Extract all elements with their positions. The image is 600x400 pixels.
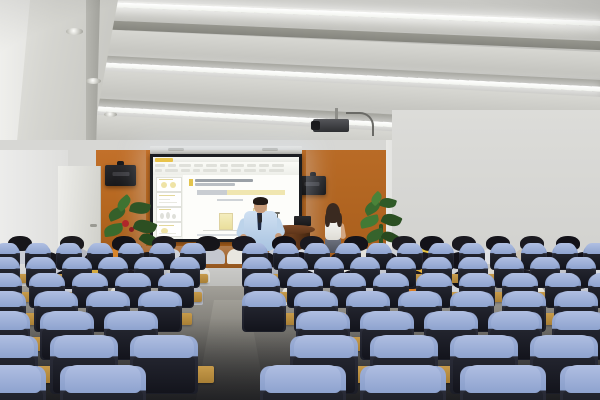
- seat-headrest: [141, 291, 180, 307]
- seat-headrest: [565, 365, 600, 393]
- seat-headrest: [453, 291, 492, 307]
- seat-headrest: [554, 243, 577, 253]
- seat-headrest: [182, 243, 205, 253]
- seat-cushion: [244, 306, 284, 331]
- seat-headrest: [151, 243, 174, 253]
- auditorium-seat[interactable]: [360, 366, 446, 400]
- auditorium-seat[interactable]: [242, 292, 286, 332]
- seat-headrest: [43, 311, 91, 330]
- seat-headrest: [58, 243, 81, 253]
- seat-headrest: [465, 365, 541, 393]
- seat-headrest: [496, 257, 522, 269]
- seat-headrest: [74, 273, 106, 287]
- seat-headrest: [418, 273, 450, 287]
- seat-headrest: [0, 273, 20, 287]
- seat-headrest: [454, 335, 514, 358]
- seat-headrest: [100, 257, 126, 269]
- seat-headrest: [401, 291, 440, 307]
- lecture-hall-photo: [0, 0, 600, 400]
- seat-headrest: [89, 291, 128, 307]
- seat-headrest: [245, 291, 284, 307]
- seat-headrest: [54, 335, 114, 358]
- seat-headrest: [160, 273, 192, 287]
- seat-headrest: [337, 243, 360, 253]
- seat-headrest: [0, 291, 23, 307]
- auditorium-seat[interactable]: [460, 366, 546, 400]
- seat-headrest: [352, 257, 378, 269]
- seat-rows: [0, 0, 600, 400]
- seat-headrest: [306, 243, 329, 253]
- seat-headrest: [89, 243, 112, 253]
- seat-headrest: [532, 257, 558, 269]
- seat-headrest: [534, 335, 594, 358]
- seat-headrest: [28, 257, 54, 269]
- seat-headrest: [246, 273, 278, 287]
- seat-headrest: [64, 257, 90, 269]
- seat-headrest: [365, 365, 441, 393]
- seat-headrest: [265, 365, 341, 393]
- seat-headrest: [27, 243, 50, 253]
- seat-headrest: [492, 243, 515, 253]
- seat-headrest: [0, 243, 18, 253]
- seat-headrest: [332, 273, 364, 287]
- seat-headrest: [461, 243, 484, 253]
- seat-headrest: [37, 291, 76, 307]
- seat-headrest: [0, 311, 27, 330]
- auditorium-seat[interactable]: [260, 366, 346, 400]
- seat-headrest: [31, 273, 63, 287]
- seat-headrest: [555, 311, 600, 330]
- seat-headrest: [491, 311, 539, 330]
- seat-headrest: [590, 273, 600, 287]
- seat-headrest: [461, 273, 493, 287]
- seat-headrest: [460, 257, 486, 269]
- seat-headrest: [244, 257, 270, 269]
- seat-headrest: [65, 365, 141, 393]
- seat-headrest: [275, 243, 298, 253]
- seat-headrest: [504, 273, 536, 287]
- seat-headrest: [0, 257, 18, 269]
- seat-headrest: [349, 291, 388, 307]
- seat-headrest: [294, 335, 354, 358]
- seat-headrest: [316, 257, 342, 269]
- seat-headrest: [374, 335, 434, 358]
- seat-headrest: [430, 243, 453, 253]
- seat-headrest: [557, 291, 596, 307]
- seat-headrest: [134, 335, 194, 358]
- seat-headrest: [368, 243, 391, 253]
- seat-headrest: [375, 273, 407, 287]
- seat-headrest: [363, 311, 411, 330]
- seat-headrest: [0, 335, 34, 358]
- seat-headrest: [568, 257, 594, 269]
- seat-headrest: [427, 311, 475, 330]
- auditorium-seat[interactable]: [0, 366, 46, 400]
- seat-headrest: [547, 273, 579, 287]
- seat-headrest: [289, 273, 321, 287]
- seat-headrest: [399, 243, 422, 253]
- auditorium-seat[interactable]: [560, 366, 600, 400]
- seat-headrest: [523, 243, 546, 253]
- seat-headrest: [388, 257, 414, 269]
- seat-headrest: [299, 311, 347, 330]
- auditorium-seat[interactable]: [60, 366, 146, 400]
- seat-headrest: [280, 257, 306, 269]
- seat-headrest: [117, 273, 149, 287]
- seat-headrest: [505, 291, 544, 307]
- seat-headrest: [172, 257, 198, 269]
- seat-headrest: [107, 311, 155, 330]
- seat-headrest: [297, 291, 336, 307]
- seat-headrest: [136, 257, 162, 269]
- seat-headrest: [244, 243, 267, 253]
- seat-headrest: [424, 257, 450, 269]
- seat-headrest: [120, 243, 143, 253]
- seat-headrest: [585, 243, 600, 253]
- seat-headrest: [0, 365, 41, 393]
